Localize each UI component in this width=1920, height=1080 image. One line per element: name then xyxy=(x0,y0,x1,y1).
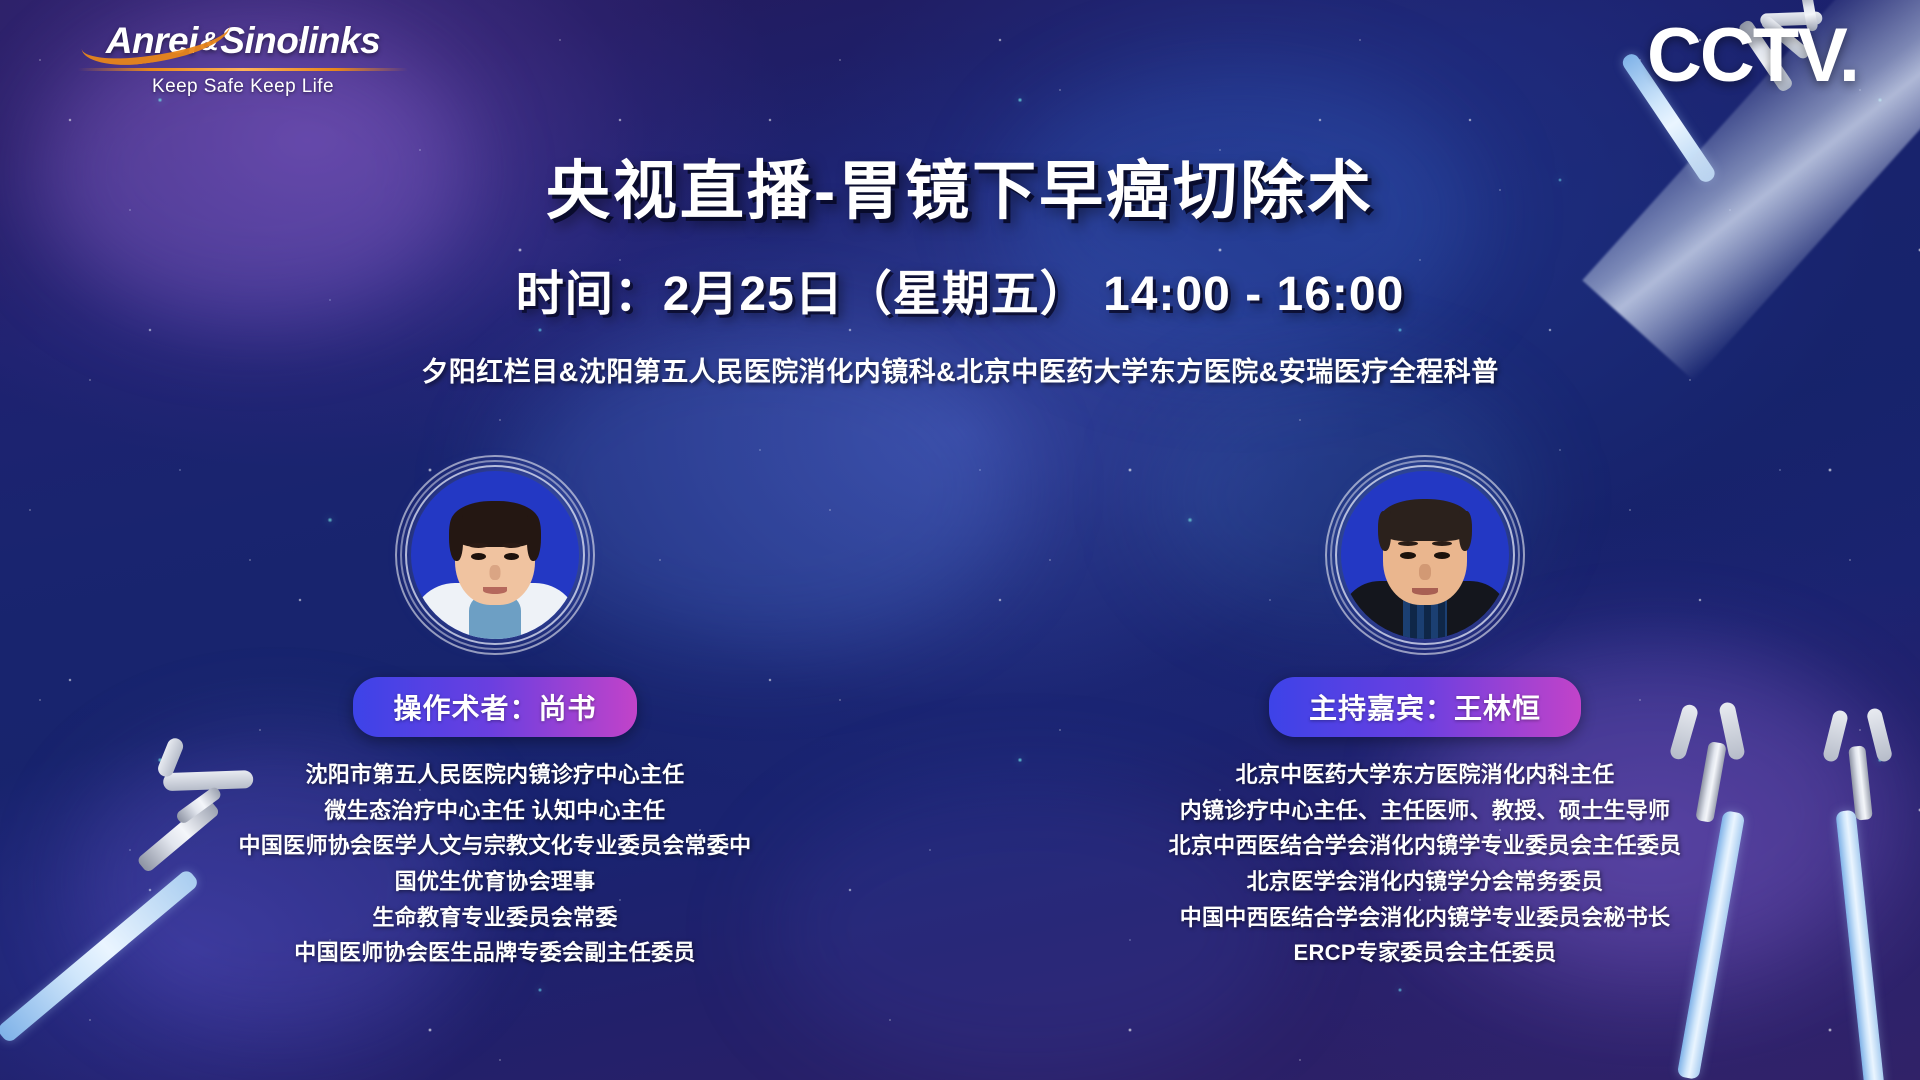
eyebrow-right xyxy=(1432,541,1452,546)
mouth xyxy=(1412,588,1438,595)
eye-left xyxy=(1400,552,1416,559)
hair xyxy=(451,501,539,547)
headline-block: 央视直播-胃镜下早癌切除术 时间：2月25日（星期五） 14:00 - 16:0… xyxy=(0,140,1920,389)
mouth xyxy=(483,587,507,594)
nose xyxy=(1419,564,1431,580)
brand-logo: Anrei & Sinolinks Keep Safe Keep Life xyxy=(78,20,408,98)
avatar xyxy=(395,455,595,655)
avatar-photo-operator xyxy=(411,471,579,639)
brand-name-part2: Sinolinks xyxy=(220,20,380,62)
hair-side-right xyxy=(1459,511,1472,551)
credential-line: 北京中西医结合学会消化内镜学专业委员会主任委员 xyxy=(1169,828,1682,864)
eye-right xyxy=(1434,552,1450,559)
page-title: 央视直播-胃镜下早癌切除术 xyxy=(0,140,1920,232)
cctv-channel-logo: CCTV. xyxy=(1647,18,1858,94)
speaker-card-host: 主持嘉宾：王林恒 北京中医药大学东方医院消化内科主任 内镜诊疗中心主任、主任医师… xyxy=(1155,455,1695,971)
hair-side-right xyxy=(527,515,541,561)
speaker-card-operator: 操作术者：尚书 沈阳市第五人民医院内镜诊疗中心主任 微生态治疗中心主任 认知中心… xyxy=(225,455,765,971)
broadcast-time: 时间：2月25日（星期五） 14:00 - 16:00 xyxy=(0,254,1920,324)
avatar xyxy=(1325,455,1525,655)
eye-left xyxy=(471,553,486,560)
brand-divider-rule xyxy=(78,68,408,71)
hair-side-left xyxy=(449,515,463,561)
avatar-photo-host xyxy=(1341,471,1509,639)
credentials-list-host: 北京中医药大学东方医院消化内科主任 内镜诊疗中心主任、主任医师、教授、硕士生导师… xyxy=(1169,757,1682,971)
partner-organizations: 夕阳红栏目&沈阳第五人民医院消化内镜科&北京中医药大学东方医院&安瑞医疗全程科普 xyxy=(0,350,1920,389)
credential-line: 内镜诊疗中心主任、主任医师、教授、硕士生导师 xyxy=(1169,793,1682,829)
hair-side-left xyxy=(1378,511,1391,551)
credentials-list-operator: 沈阳市第五人民医院内镜诊疗中心主任 微生态治疗中心主任 认知中心主任 中国医师协… xyxy=(239,757,752,971)
credential-line: 北京医学会消化内镜学分会常务委员 xyxy=(1169,864,1682,900)
credential-line: 中国医师协会医生品牌专委会副主任委员 xyxy=(239,935,752,971)
eyebrow-right xyxy=(502,543,521,548)
speaker-badge-operator: 操作术者：尚书 xyxy=(353,677,636,737)
credential-line: ERCP专家委员会主任委员 xyxy=(1169,935,1682,971)
poster-canvas: Anrei & Sinolinks Keep Safe Keep Life CC… xyxy=(0,0,1920,1080)
credential-line: 中国医师协会医学人文与宗教文化专业委员会常委中 xyxy=(239,828,752,864)
credential-line: 微生态治疗中心主任 认知中心主任 xyxy=(239,793,752,829)
credential-line: 沈阳市第五人民医院内镜诊疗中心主任 xyxy=(239,757,752,793)
nose xyxy=(490,565,501,580)
speakers-section: 操作术者：尚书 沈阳市第五人民医院内镜诊疗中心主任 微生态治疗中心主任 认知中心… xyxy=(0,455,1920,971)
credential-line: 北京中医药大学东方医院消化内科主任 xyxy=(1169,757,1682,793)
eyebrow-left xyxy=(1398,541,1418,546)
speaker-badge-host: 主持嘉宾：王林恒 xyxy=(1269,677,1581,737)
eyebrow-left xyxy=(469,543,488,548)
eye-right xyxy=(504,553,519,560)
credential-line: 国优生优育协会理事 xyxy=(239,864,752,900)
credential-line: 生命教育专业委员会常委 xyxy=(239,900,752,936)
credential-line: 中国中西医结合学会消化内镜学专业委员会秘书长 xyxy=(1169,900,1682,936)
hair xyxy=(1380,499,1470,541)
brand-tagline: Keep Safe Keep Life xyxy=(78,76,408,98)
